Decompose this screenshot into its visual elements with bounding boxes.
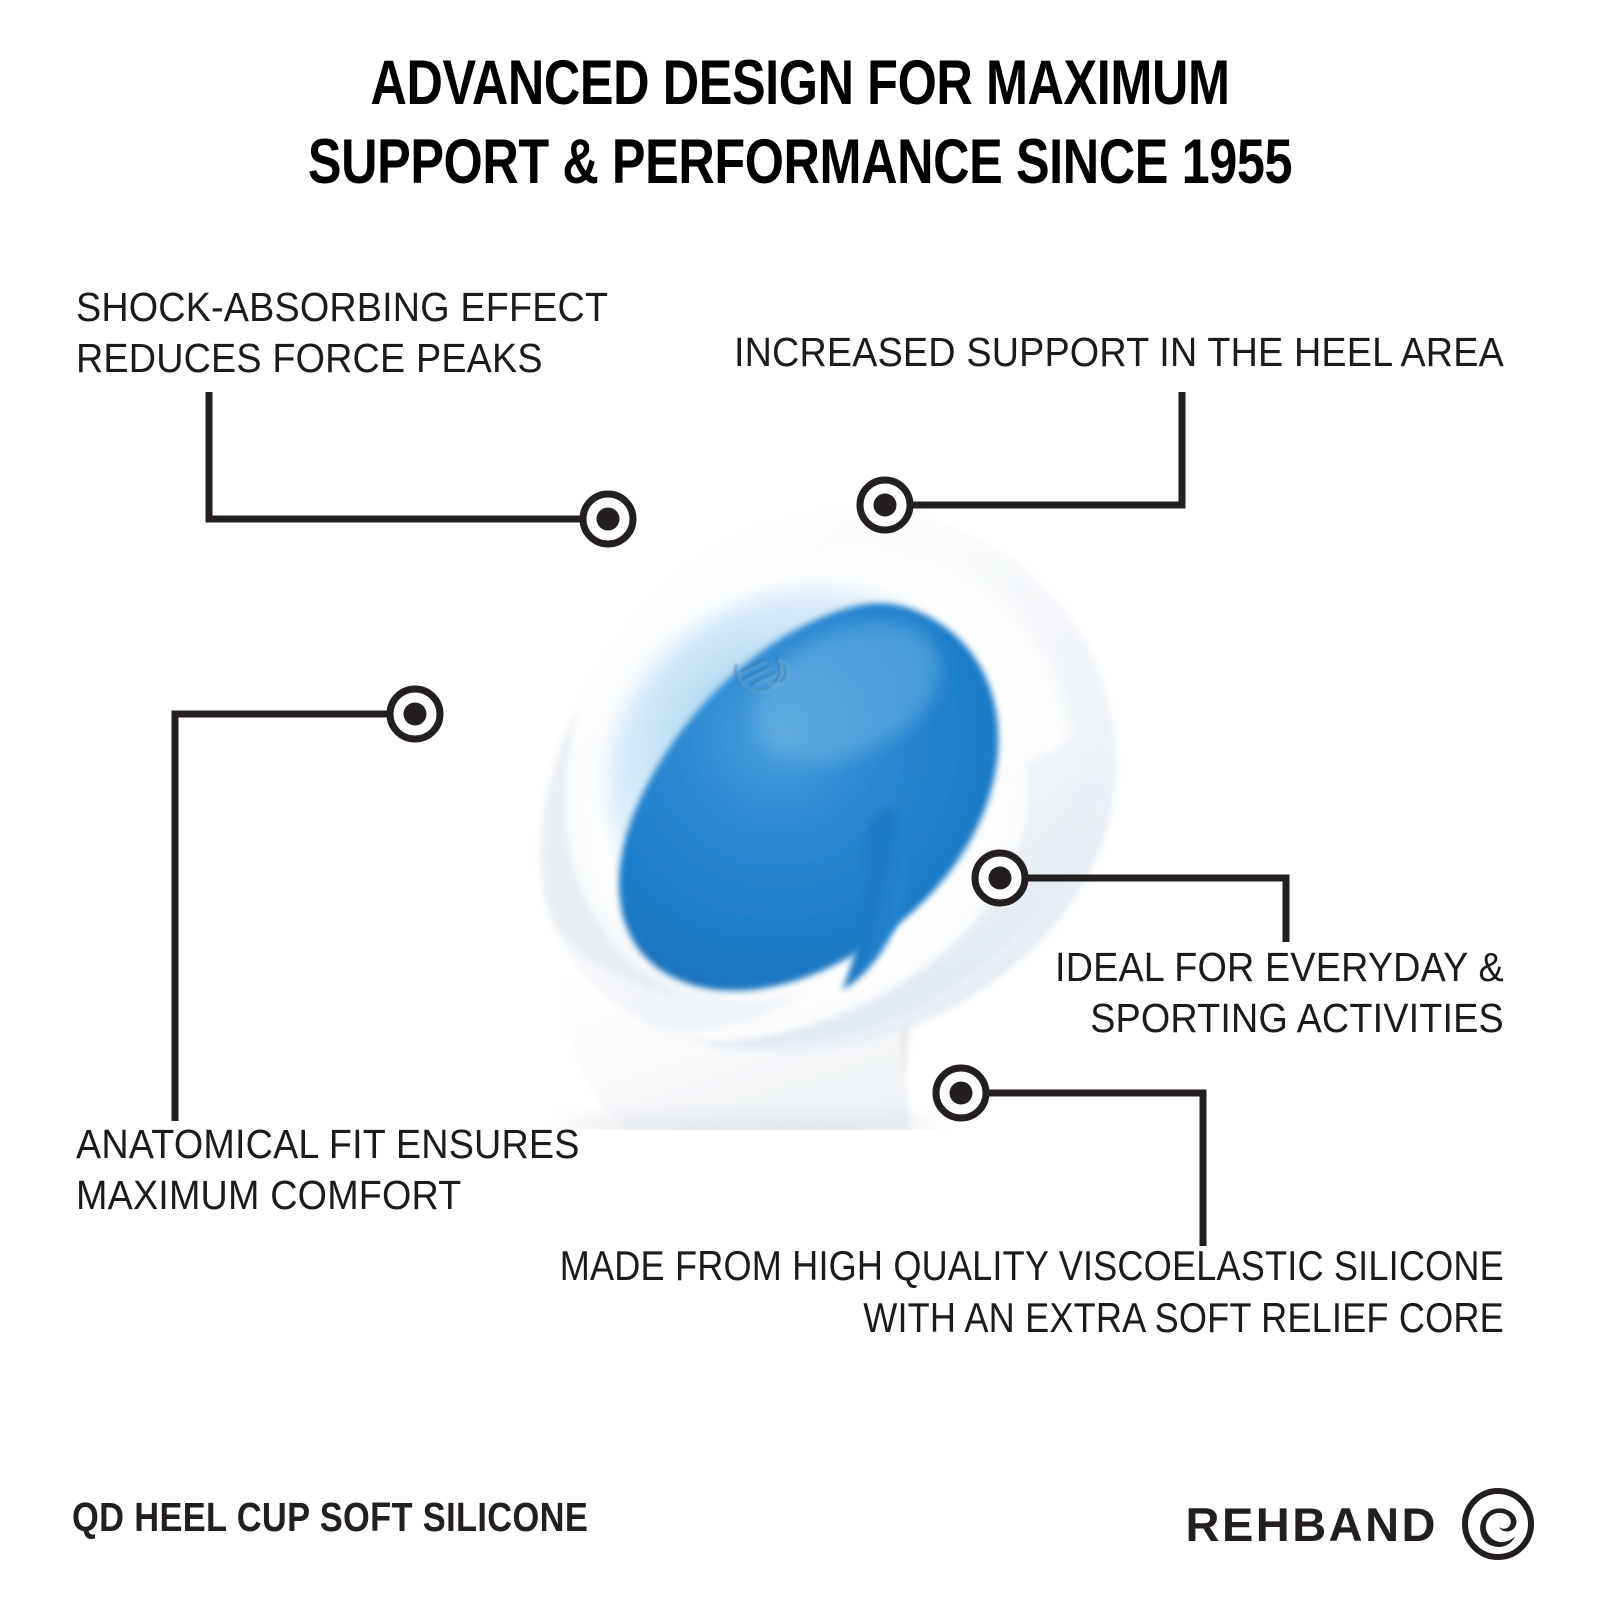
callout-increased-support: INCREASED SUPPORT IN THE HEEL AREA <box>734 327 1504 378</box>
callout-anatomical-fit: ANATOMICAL FIT ENSURESMAXIMUM COMFORT <box>76 1119 580 1221</box>
brand-logo: REHBAND <box>1186 1486 1537 1562</box>
callout-anatomical-fit-line-2: MAXIMUM COMFORT <box>76 1172 462 1218</box>
callout-viscoelastic-silicone-line-2: WITH AN EXTRA SOFT RELIEF CORE <box>863 1294 1504 1341</box>
headline-line-1: ADVANCED DESIGN FOR MAXIMUM <box>370 48 1229 118</box>
product-name-label: QD HEEL CUP SOFT SILICONE <box>72 1494 588 1541</box>
page-title: ADVANCED DESIGN FOR MAXIMUMSUPPORT & PER… <box>160 44 1440 202</box>
callout-viscoelastic-silicone-line-1: MADE FROM HIGH QUALITY VISCOELASTIC SILI… <box>560 1242 1504 1289</box>
rehband-swirl-logo-icon <box>1460 1486 1536 1562</box>
callout-viscoelastic-silicone: MADE FROM HIGH QUALITY VISCOELASTIC SILI… <box>560 1240 1504 1344</box>
callout-shock-absorbing-line-2: REDUCES FORCE PEAKS <box>76 335 543 381</box>
infographic-page: ADVANCED DESIGN FOR MAXIMUMSUPPORT & PER… <box>0 0 1600 1600</box>
callout-shock-absorbing: SHOCK-ABSORBING EFFECTREDUCES FORCE PEAK… <box>76 282 608 384</box>
brand-wordmark: REHBAND <box>1186 1497 1439 1552</box>
callout-anatomical-fit-line-1: ANATOMICAL FIT ENSURES <box>76 1121 580 1167</box>
callout-ideal-for-everyday-line-1: IDEAL FOR EVERYDAY & <box>1055 944 1504 990</box>
callout-ideal-for-everyday-line-2: SPORTING ACTIVITIES <box>1090 995 1504 1041</box>
callout-shock-absorbing-line-1: SHOCK-ABSORBING EFFECT <box>76 284 608 330</box>
callout-ideal-for-everyday: IDEAL FOR EVERYDAY &SPORTING ACTIVITIES <box>1055 942 1504 1044</box>
headline-line-2: SUPPORT & PERFORMANCE SINCE 1955 <box>308 127 1292 197</box>
callout-increased-support-line-1: INCREASED SUPPORT IN THE HEEL AREA <box>734 329 1504 375</box>
front-heel-cup <box>538 510 1117 1053</box>
